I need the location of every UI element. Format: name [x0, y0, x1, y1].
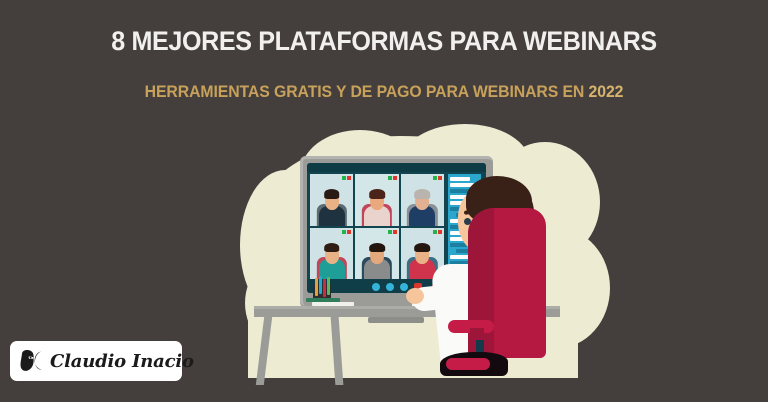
video-participant-grid	[310, 174, 444, 279]
tile-status-dots	[388, 230, 397, 234]
pencil	[323, 279, 326, 297]
tile-hair	[415, 243, 431, 252]
webinar-banner: 8 MEJORES PLATAFORMAS PARA WEBINARS HERR…	[0, 0, 768, 402]
monitor-stand-base	[368, 317, 424, 323]
tile-status-dots	[342, 176, 351, 180]
subtitle-main-text: HERRAMIENTAS GRATIS Y DE PAGO PARA WEBIN…	[145, 82, 589, 101]
tile-hair	[324, 243, 340, 252]
brand-logo[interactable]: Claudio Inacio	[10, 341, 182, 381]
office-chair-foot	[446, 358, 490, 370]
bearded-face-icon	[19, 349, 45, 373]
tile-hair	[415, 189, 431, 198]
pencil	[315, 278, 318, 296]
participant-tile-p4[interactable]	[310, 228, 353, 280]
tile-status-dots	[388, 176, 397, 180]
page-subtitle: HERRAMIENTAS GRATIS Y DE PAGO PARA WEBIN…	[27, 82, 741, 102]
camera-button[interactable]	[386, 283, 394, 291]
tile-hair	[324, 189, 340, 198]
share-button[interactable]	[400, 283, 408, 291]
pencil	[319, 276, 322, 294]
tile-hair	[369, 243, 385, 252]
page-title: 8 MEJORES PLATAFORMAS PARA WEBINARS	[27, 26, 741, 57]
participant-tile-p3[interactable]	[401, 174, 444, 226]
pencil	[327, 277, 330, 295]
participant-tile-p5[interactable]	[355, 228, 398, 280]
screen-title-bar	[307, 163, 486, 172]
mic-button[interactable]	[372, 283, 380, 291]
chat-message-line	[450, 177, 470, 181]
viewer-hand	[406, 288, 424, 304]
subtitle-year: 2022	[589, 82, 624, 101]
tile-hair	[369, 189, 385, 198]
tile-status-dots	[433, 230, 442, 234]
tile-status-dots	[433, 176, 442, 180]
participant-tile-p1[interactable]	[310, 174, 353, 226]
participant-tile-p2[interactable]	[355, 174, 398, 226]
brand-name: Claudio Inacio	[50, 351, 194, 372]
tile-status-dots	[342, 230, 351, 234]
